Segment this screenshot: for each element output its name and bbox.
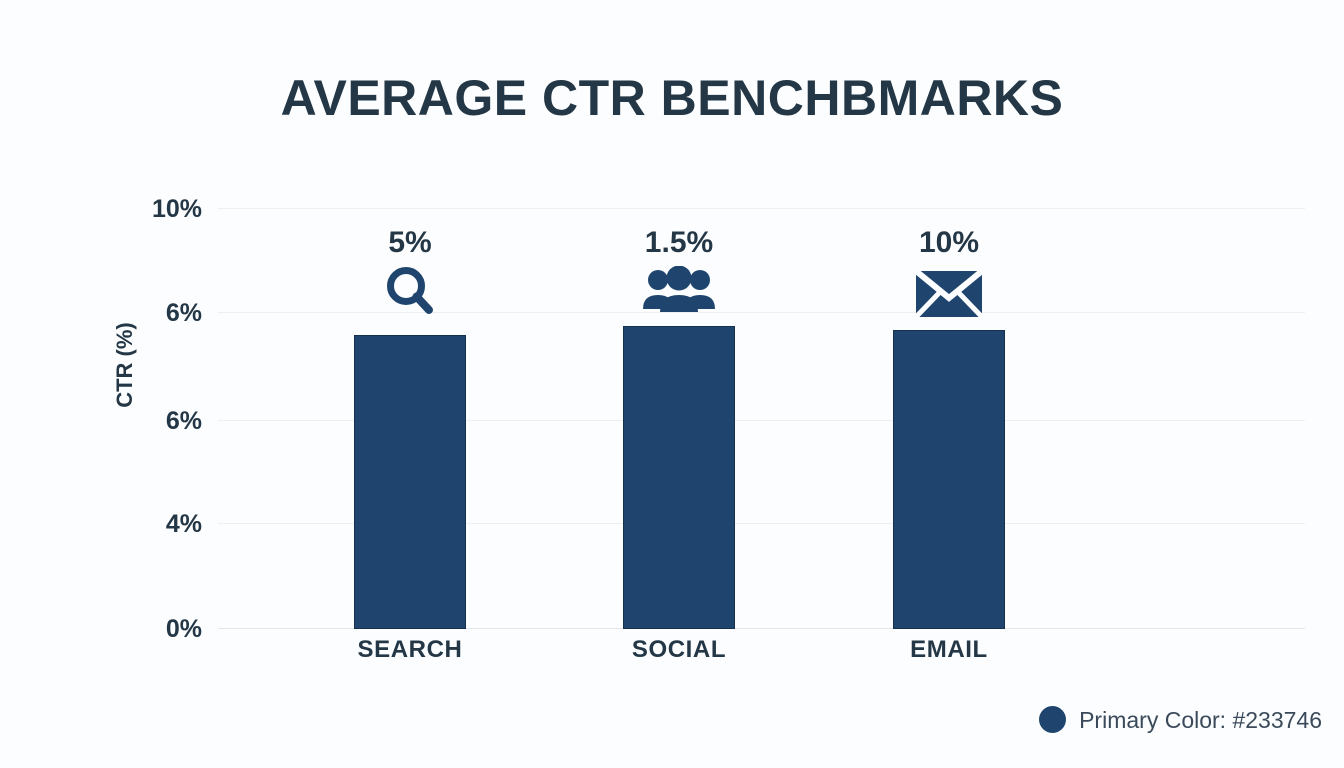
chart-title: AVERAGE CTR BENCHBMARKS <box>0 68 1344 128</box>
color-swatch-icon <box>1039 706 1066 733</box>
bar-social[interactable] <box>623 326 735 629</box>
primary-color-legend: Primary Color: #233746 <box>1039 706 1322 733</box>
envelope-icon <box>859 270 1039 318</box>
bar-label-search: SEARCH <box>300 636 520 664</box>
bar-value-social: 1.5% <box>589 226 769 260</box>
chart-canvas: AVERAGE CTR BENCHBMARKS CTR (%) 10% 6% 6… <box>0 0 1344 768</box>
people-icon <box>589 266 769 314</box>
y-tick-label-3: 4% <box>120 510 202 538</box>
y-tick-label-2: 6% <box>120 407 202 435</box>
y-tick-label-0: 10% <box>120 195 202 223</box>
bar-email[interactable] <box>893 330 1005 629</box>
gridline-10 <box>218 208 1305 209</box>
y-tick-label-1: 6% <box>120 299 202 327</box>
y-tick-label-4: 0% <box>120 615 202 643</box>
search-icon <box>320 262 500 318</box>
bar-value-email: 10% <box>859 226 1039 260</box>
bar-label-email: EMAIL <box>839 636 1059 664</box>
bar-label-social: SOCIAL <box>569 636 789 664</box>
primary-color-label: Primary Color: #233746 <box>1079 707 1322 733</box>
bar-value-search: 5% <box>320 226 500 260</box>
bar-search[interactable] <box>354 335 466 629</box>
